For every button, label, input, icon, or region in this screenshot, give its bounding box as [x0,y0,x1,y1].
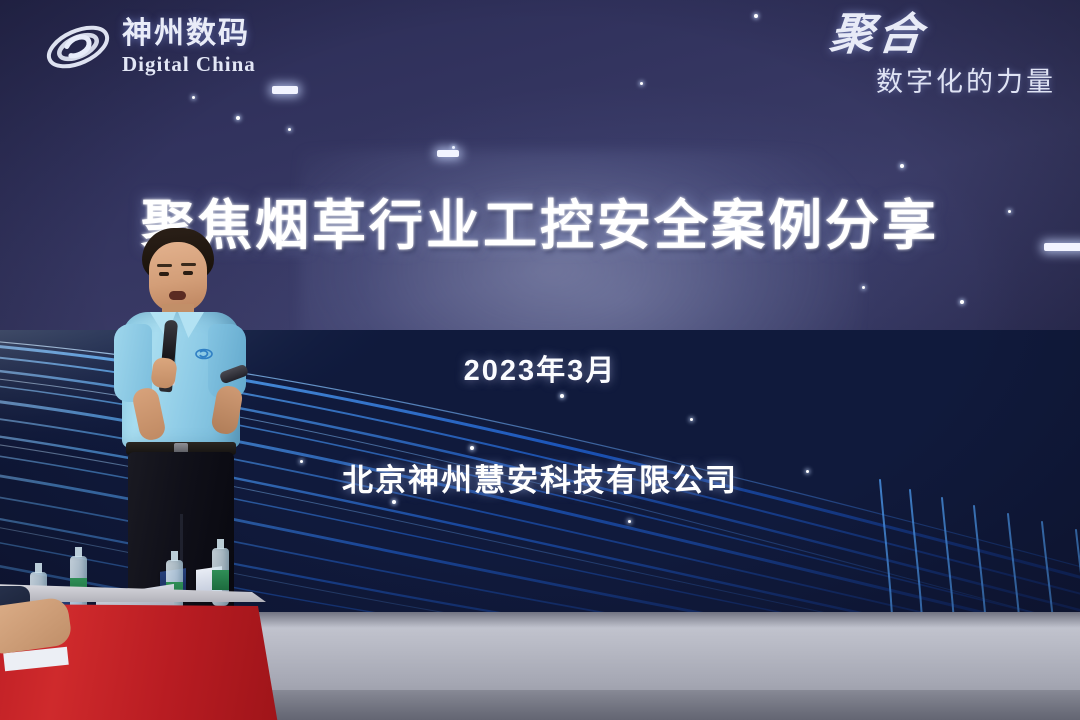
spiral-galaxy-icon [44,16,112,78]
tagline-brush-text: 聚合 [828,14,928,56]
tagline-sub-text: 数字化的力量 [830,60,1056,99]
presenter [96,228,276,628]
brand-name-cn: 神州数码 [122,19,256,49]
presenter-mouth [169,291,186,300]
brand-name-en: Digital China [122,54,256,75]
conference-photo: 神州数码 Digital China 聚合 数字化的力量 聚焦烟草行业工控安全案… [0,0,1080,720]
brand-logo: 神州数码 Digital China [44,16,256,78]
presenter-face [149,242,207,312]
shirt-chest-logo-icon [194,346,214,362]
event-tagline: 聚合 数字化的力量 [830,14,1056,99]
